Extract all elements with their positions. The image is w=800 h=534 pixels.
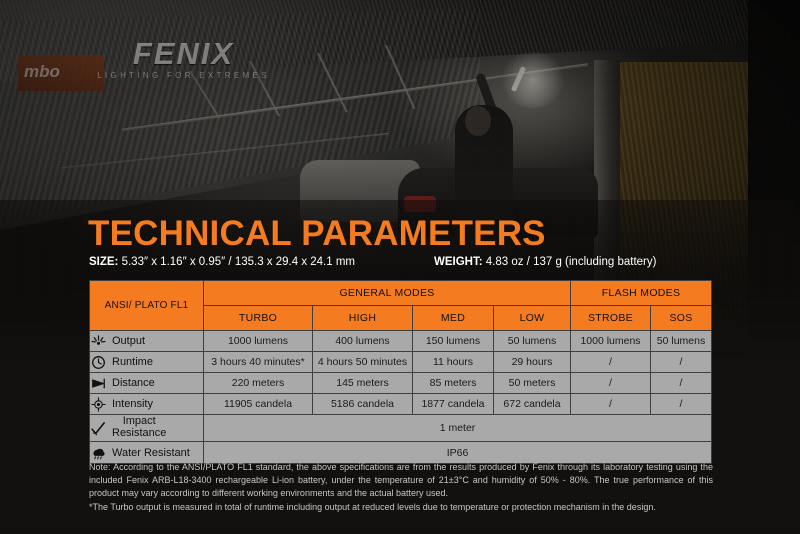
output-rays-icon	[90, 333, 107, 350]
spec-summary-line: SIZE: 5.33″ x 1.16″ x 0.95″ / 135.3 x 29…	[89, 256, 714, 270]
row-label-output: Output	[90, 331, 204, 352]
cell-runtime-strobe: /	[571, 352, 651, 373]
technical-parameters-table: ANSI/ PLATO FL1 GENERAL MODES FLASH MODE…	[89, 280, 712, 464]
header-mode-high: HIGH	[313, 306, 413, 331]
cell-intensity-low: 672 candela	[494, 394, 571, 415]
row-label-text: Impact Resistance	[112, 416, 166, 439]
header-mode-turbo: TURBO	[204, 306, 313, 331]
cell-runtime-turbo: 3 hours 40 minutes*	[204, 352, 313, 373]
row-label-impact-resistance: Impact Resistance	[90, 415, 204, 442]
page-title: TECHNICAL PARAMETERS	[88, 216, 546, 251]
size-spec: SIZE: 5.33″ x 1.16″ x 0.95″ / 135.3 x 29…	[89, 256, 434, 270]
size-value: 5.33″ x 1.16″ x 0.95″ / 135.3 x 29.4 x 2…	[122, 256, 355, 268]
row-label-text: Runtime	[112, 356, 153, 368]
table-row: Intensity 11905 candela 5186 candela 187…	[90, 394, 712, 415]
weight-value: 4.83 oz / 137 g (including battery)	[486, 256, 657, 268]
fenix-logo: FENIX LIGHTING FOR EXTREMES	[86, 38, 281, 80]
fenix-logo-tagline: LIGHTING FOR EXTREMES	[86, 72, 281, 80]
cell-runtime-high: 4 hours 50 minutes	[313, 352, 413, 373]
cell-distance-med: 85 meters	[413, 373, 494, 394]
table-row: Distance 220 meters 145 meters 85 meters…	[90, 373, 712, 394]
cell-output-strobe: 1000 lumens	[571, 331, 651, 352]
header-mode-strobe: STROBE	[571, 306, 651, 331]
row-label-text: Distance	[112, 377, 155, 389]
beam-distance-icon	[90, 375, 107, 392]
header-ansi-plato: ANSI/ PLATO FL1	[90, 281, 204, 331]
row-label-text: Intensity	[112, 398, 153, 410]
cell-distance-low: 50 meters	[494, 373, 571, 394]
cell-intensity-sos: /	[651, 394, 712, 415]
weight-label: WEIGHT:	[434, 256, 483, 268]
footnote-block: Note: According to the ANSI/PLATO FL1 st…	[89, 461, 713, 514]
cell-distance-sos: /	[651, 373, 712, 394]
table-row: Impact Resistance 1 meter	[90, 415, 712, 442]
cell-runtime-med: 11 hours	[413, 352, 494, 373]
footnote-asterisk: *The Turbo output is measured in total o…	[89, 501, 713, 514]
cell-runtime-sos: /	[651, 352, 712, 373]
fenix-logo-wordmark: FENIX	[86, 38, 281, 69]
cell-intensity-high: 5186 candela	[313, 394, 413, 415]
cell-runtime-low: 29 hours	[494, 352, 571, 373]
cell-distance-turbo: 220 meters	[204, 373, 313, 394]
cell-output-sos: 50 lumens	[651, 331, 712, 352]
table-row: Output 1000 lumens 400 lumens 150 lumens…	[90, 331, 712, 352]
cell-output-high: 400 lumens	[313, 331, 413, 352]
row-label-text: Output	[112, 335, 145, 347]
cell-distance-high: 145 meters	[313, 373, 413, 394]
water-drop-icon	[90, 444, 107, 461]
table-group-header-row: ANSI/ PLATO FL1 GENERAL MODES FLASH MODE…	[90, 281, 712, 306]
cell-impact-resistance-value: 1 meter	[204, 415, 712, 442]
header-general-modes: GENERAL MODES	[204, 281, 571, 306]
header-mode-med: MED	[413, 306, 494, 331]
header-mode-sos: SOS	[651, 306, 712, 331]
row-label-text: Water Resistant	[112, 447, 190, 459]
table-row: Runtime 3 hours 40 minutes* 4 hours 50 m…	[90, 352, 712, 373]
row-label-intensity: Intensity	[90, 394, 204, 415]
weight-spec: WEIGHT: 4.83 oz / 137 g (including batte…	[434, 256, 656, 270]
cell-intensity-strobe: /	[571, 394, 651, 415]
footnote-note: Note: According to the ANSI/PLATO FL1 st…	[89, 461, 713, 501]
row-label-distance: Distance	[90, 373, 204, 394]
impact-check-icon	[90, 420, 107, 437]
cell-output-low: 50 lumens	[494, 331, 571, 352]
cell-intensity-turbo: 11905 candela	[204, 394, 313, 415]
cell-intensity-med: 1877 candela	[413, 394, 494, 415]
header-flash-modes: FLASH MODES	[571, 281, 712, 306]
header-mode-low: LOW	[494, 306, 571, 331]
size-label: SIZE:	[89, 256, 118, 268]
clock-icon	[90, 354, 107, 371]
row-label-runtime: Runtime	[90, 352, 204, 373]
cell-distance-strobe: /	[571, 373, 651, 394]
intensity-target-icon	[90, 396, 107, 413]
impact-label-line1: Impact	[123, 415, 156, 427]
cell-output-med: 150 lumens	[413, 331, 494, 352]
impact-label-line2: Resistance	[112, 427, 166, 439]
cell-output-turbo: 1000 lumens	[204, 331, 313, 352]
